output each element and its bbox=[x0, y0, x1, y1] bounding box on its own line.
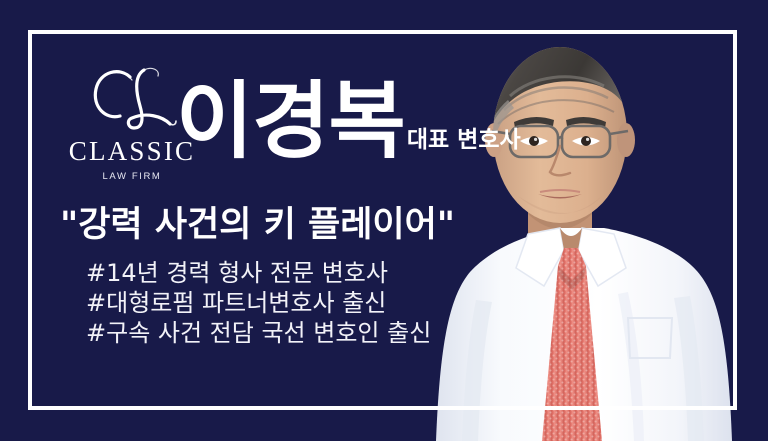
portrait-photo bbox=[432, 0, 768, 441]
credential-item: #14년 경력 형사 전문 변호사 bbox=[86, 258, 431, 288]
firm-tagline: LAW FIRM bbox=[68, 172, 196, 182]
lawyer-title: 대표 변호사 bbox=[407, 120, 521, 162]
headline-row: 이경복 대표 변호사 bbox=[176, 82, 521, 162]
lawyer-profile-banner: CLASSIC LAW FIRM 이경복 대표 변호사 "강력 사건의 키 플레… bbox=[0, 0, 768, 441]
content-column: CLASSIC LAW FIRM 이경복 대표 변호사 "강력 사건의 키 플레… bbox=[0, 0, 470, 441]
tagline: "강력 사건의 키 플레이어" bbox=[60, 196, 455, 247]
cl-monogram-icon bbox=[84, 62, 180, 136]
credentials-list: #14년 경력 형사 전문 변호사 #대형로펌 파트너변호사 출신 #구속 사건… bbox=[86, 258, 431, 348]
lawyer-name: 이경복 bbox=[176, 82, 405, 162]
credential-item: #구속 사건 전담 국선 변호인 출신 bbox=[86, 318, 431, 348]
credential-item: #대형로펌 파트너변호사 출신 bbox=[86, 288, 431, 318]
